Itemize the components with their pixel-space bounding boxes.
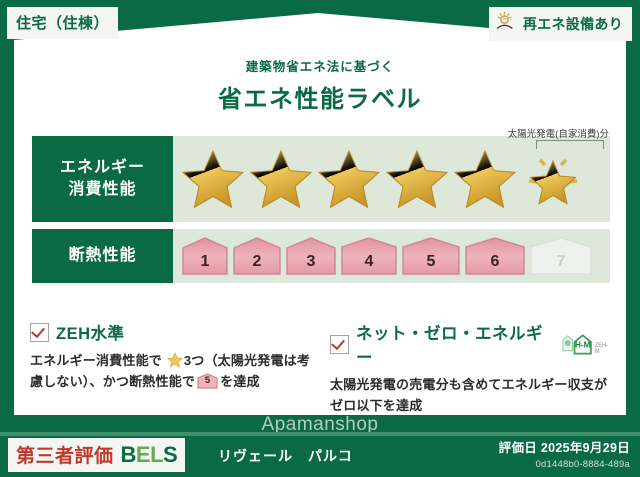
energy-consumption-row: エネルギー 消費性能 太陽光発電(自家消費)分 xyxy=(32,136,610,222)
insulation-grade-list: 1 2 3 4 5 xyxy=(173,236,593,276)
inline-grade-badge: 5 xyxy=(197,373,218,389)
svg-text:H-M: H-M xyxy=(575,340,591,349)
title-subtitle: 建築物省エネ法に基づく xyxy=(0,56,640,75)
zeh-standard-title: ZEH水準 xyxy=(56,320,125,344)
star-rating: 太陽光発電(自家消費)分 xyxy=(173,148,610,210)
energy-performance-label: 住宅（住棟） 再エネ設備あり 建築物省エネ法に基づく 省エネ性能ラベル xyxy=(0,0,640,477)
insulation-grade-6-value: 6 xyxy=(464,253,526,271)
insulation-grade-4-value: 4 xyxy=(340,253,398,271)
insulation-grade-2: 2 xyxy=(232,236,282,276)
star-solar-6 xyxy=(521,148,585,210)
zeh-m-house-icon: H-M ZEH-M xyxy=(561,331,612,357)
insulation-grade-7: 7 xyxy=(529,236,593,276)
renewable-energy-chip: 再エネ設備あり xyxy=(489,7,632,41)
bels-badge: 第三者評価 BELS xyxy=(8,438,185,472)
net-zero-header: ネット・ゼロ・エネルギー H-M ZEH-M xyxy=(330,320,612,368)
energy-label-line1: エネルギー xyxy=(60,157,145,179)
evaluation-info: 評価日 2025年9月29日 0d1448b0-8884-489a xyxy=(499,437,630,470)
energy-consumption-label: エネルギー 消費性能 xyxy=(32,136,173,222)
star-filled-1 xyxy=(181,148,245,210)
net-zero-body: 太陽光発電の売電分も含めてエネルギー収支がゼロ以下を達成 xyxy=(330,374,612,417)
solar-sun-icon xyxy=(496,11,518,36)
star-filled-3 xyxy=(317,148,381,210)
insulation-grade-1: 1 xyxy=(181,236,229,276)
insulation-grade-7-value: 7 xyxy=(529,253,593,271)
insulation-body: 1 2 3 4 5 xyxy=(173,229,610,283)
zeh-standard-column: ZEH水準 エネルギー消費性能で 3つ（太陽光発電は考慮しない）、かつ断熱性能で… xyxy=(30,320,312,417)
solar-note-label: 太陽光発電(自家消費)分 xyxy=(508,126,609,140)
evaluation-id: 0d1448b0-8884-489a xyxy=(499,459,630,470)
insulation-grade-2-value: 2 xyxy=(232,253,282,271)
bels-jp-label: 第三者評価 xyxy=(16,441,114,468)
inline-grade-badge-value: 5 xyxy=(197,373,218,389)
insulation-row: 断熱性能 1 2 3 xyxy=(32,229,610,283)
title-main: 省エネ性能ラベル xyxy=(0,79,640,114)
zeh-standard-body: エネルギー消費性能で 3つ（太陽光発電は考慮しない）、かつ断熱性能で 5 を達成 xyxy=(30,350,312,393)
zeh-body-post: を達成 xyxy=(220,374,260,389)
star-filled-4 xyxy=(385,148,449,210)
evaluation-date: 評価日 2025年9月29日 xyxy=(499,437,630,456)
net-zero-title: ネット・ゼロ・エネルギー xyxy=(356,320,553,368)
check-icon-netzero xyxy=(330,335,349,354)
bels-logo: BELS xyxy=(121,442,178,468)
footer-separator xyxy=(0,432,640,436)
energy-label-line2: 消費性能 xyxy=(68,179,136,201)
performance-rows: エネルギー 消費性能 太陽光発電(自家消費)分 xyxy=(32,136,610,283)
check-icon-zeh xyxy=(30,323,49,342)
certification-columns: ZEH水準 エネルギー消費性能で 3つ（太陽光発電は考慮しない）、かつ断熱性能で… xyxy=(30,320,612,417)
renewable-energy-label: 再エネ設備あり xyxy=(523,14,623,34)
net-zero-energy-column: ネット・ゼロ・エネルギー H-M ZEH-M 太陽光発電の売電分も含めてエネルギ… xyxy=(330,320,612,417)
building-type-label: 住宅（住棟） xyxy=(16,15,109,32)
star-filled-5 xyxy=(453,148,517,210)
footer-bar: 第三者評価 BELS リヴェール パルコ 評価日 2025年9月29日 0d14… xyxy=(0,432,640,477)
bels-letter-s: S xyxy=(163,442,177,467)
bels-letter-b: B xyxy=(121,442,136,467)
insulation-grade-6: 6 xyxy=(464,236,526,276)
insulation-label: 断熱性能 xyxy=(32,229,173,283)
insulation-label-text: 断熱性能 xyxy=(68,245,136,267)
bels-letter-el: EL xyxy=(136,442,163,467)
energy-consumption-body: 太陽光発電(自家消費)分 xyxy=(173,136,610,222)
label-title: 建築物省エネ法に基づく 省エネ性能ラベル xyxy=(0,56,640,114)
insulation-grade-4: 4 xyxy=(340,236,398,276)
zeh-standard-header: ZEH水準 xyxy=(30,320,312,344)
insulation-grade-5-value: 5 xyxy=(401,253,461,271)
insulation-grade-1-value: 1 xyxy=(181,253,229,271)
inline-star-icon xyxy=(167,352,183,368)
insulation-grade-5: 5 xyxy=(401,236,461,276)
insulation-grade-3-value: 3 xyxy=(285,253,337,271)
building-type-chip: 住宅（住棟） xyxy=(7,7,118,39)
insulation-grade-3: 3 xyxy=(285,236,337,276)
zeh-m-caption: ZEH-M xyxy=(595,343,612,357)
star-filled-2 xyxy=(249,148,313,210)
zeh-body-pre: エネルギー消費性能で xyxy=(30,353,162,368)
property-name: リヴェール パルコ xyxy=(218,446,353,466)
